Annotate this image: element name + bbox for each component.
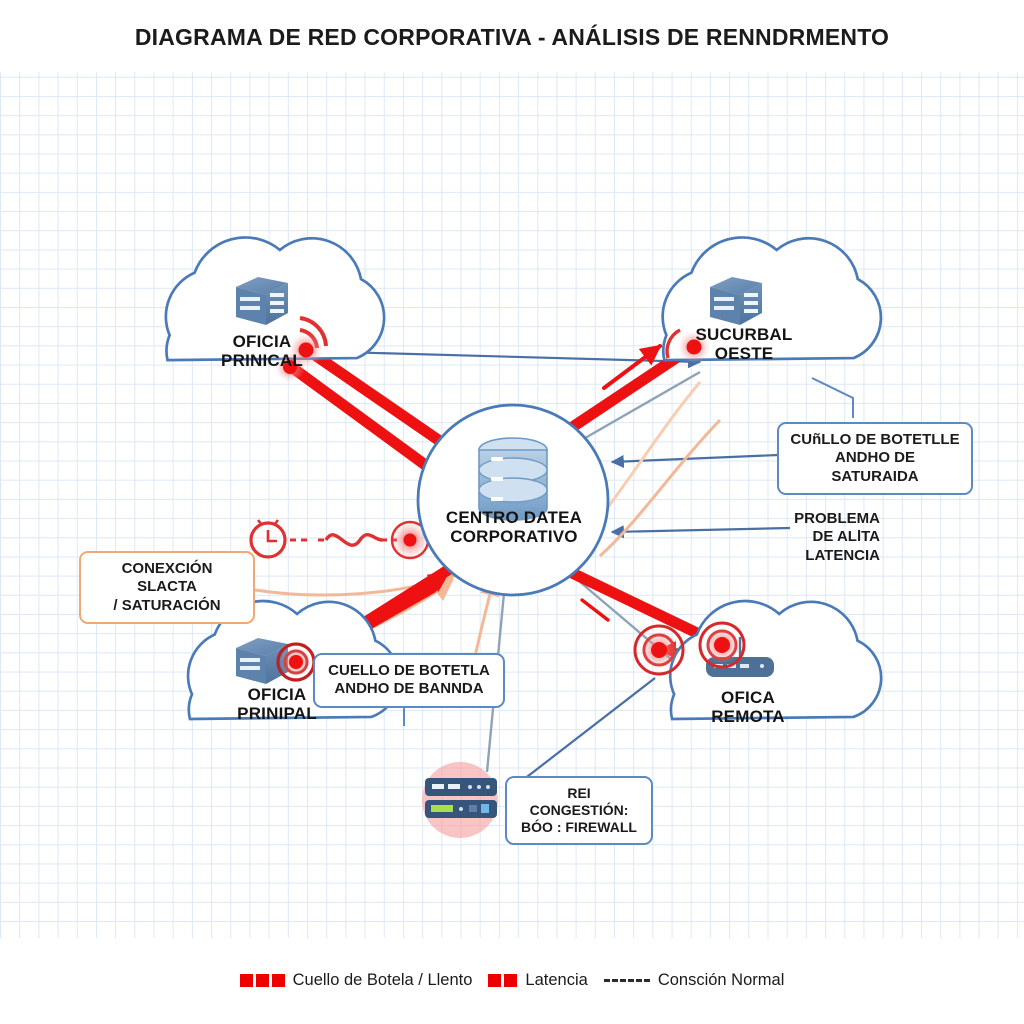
database-icon: [479, 438, 547, 520]
callout-ancho-saturada[interactable]: CUñLLO DE BOTETLLE ANDHO DE SATURAIDA: [777, 422, 973, 495]
node-centro-datos[interactable]: [418, 405, 608, 595]
edge-latency-right: [600, 420, 720, 556]
callout-congestion-firewall[interactable]: REI CONGESTIÓN: BÓO : FIREWALL: [505, 776, 653, 845]
callout-ancho-banda[interactable]: CUELLO DE BOTETLA ANDHO DE BANNDA: [313, 653, 505, 708]
signal-core-dot: [404, 534, 417, 547]
alert-rings-icon: [278, 644, 314, 680]
legend-swatch-normal-icon: [604, 979, 650, 982]
latency-wave: [326, 535, 382, 546]
node-oficina-principal-top[interactable]: [166, 237, 384, 382]
edge-callout-ancho-pointer: [612, 455, 778, 462]
latency-clock-glyph: [251, 520, 398, 557]
callout-alta-latencia: PROBLEMA DE ALlTA LATENCIA: [784, 510, 880, 565]
legend-swatch-bottleneck-icon: [240, 974, 285, 987]
legend-label-normal: Consción Normal: [658, 971, 785, 990]
legend-label-bottleneck: Cuello de Botela / Llento: [293, 971, 473, 990]
legend-item-normal[interactable]: Consción Normal: [604, 971, 785, 990]
node-sucursal-oeste[interactable]: [663, 237, 881, 363]
node-firewall-switch[interactable]: [422, 762, 498, 838]
legend-label-latency: Latencia: [525, 971, 587, 990]
legend-item-bottleneck[interactable]: Cuello de Botela / Llento: [240, 971, 473, 990]
clock-hands-icon: [268, 530, 277, 541]
legend: Cuello de Botela / Llento Latencia Consc…: [0, 971, 1024, 990]
legend-item-latency[interactable]: Latencia: [488, 971, 587, 990]
edge-callout-ancho-leader: [812, 378, 853, 418]
legend-swatch-latency-icon: [488, 974, 517, 987]
callout-conexion-lenta[interactable]: CONEXCIÓN SLACTA / SATURACIÓN: [79, 551, 255, 624]
edge-firewall-remota: [510, 678, 655, 790]
diagram-canvas: DIAGRAMA DE RED CORPORATIVA - ANÁLISIS D…: [0, 0, 1024, 1024]
edge-callout-latency-pointer: [612, 528, 790, 532]
cloud-shape: [670, 601, 881, 719]
